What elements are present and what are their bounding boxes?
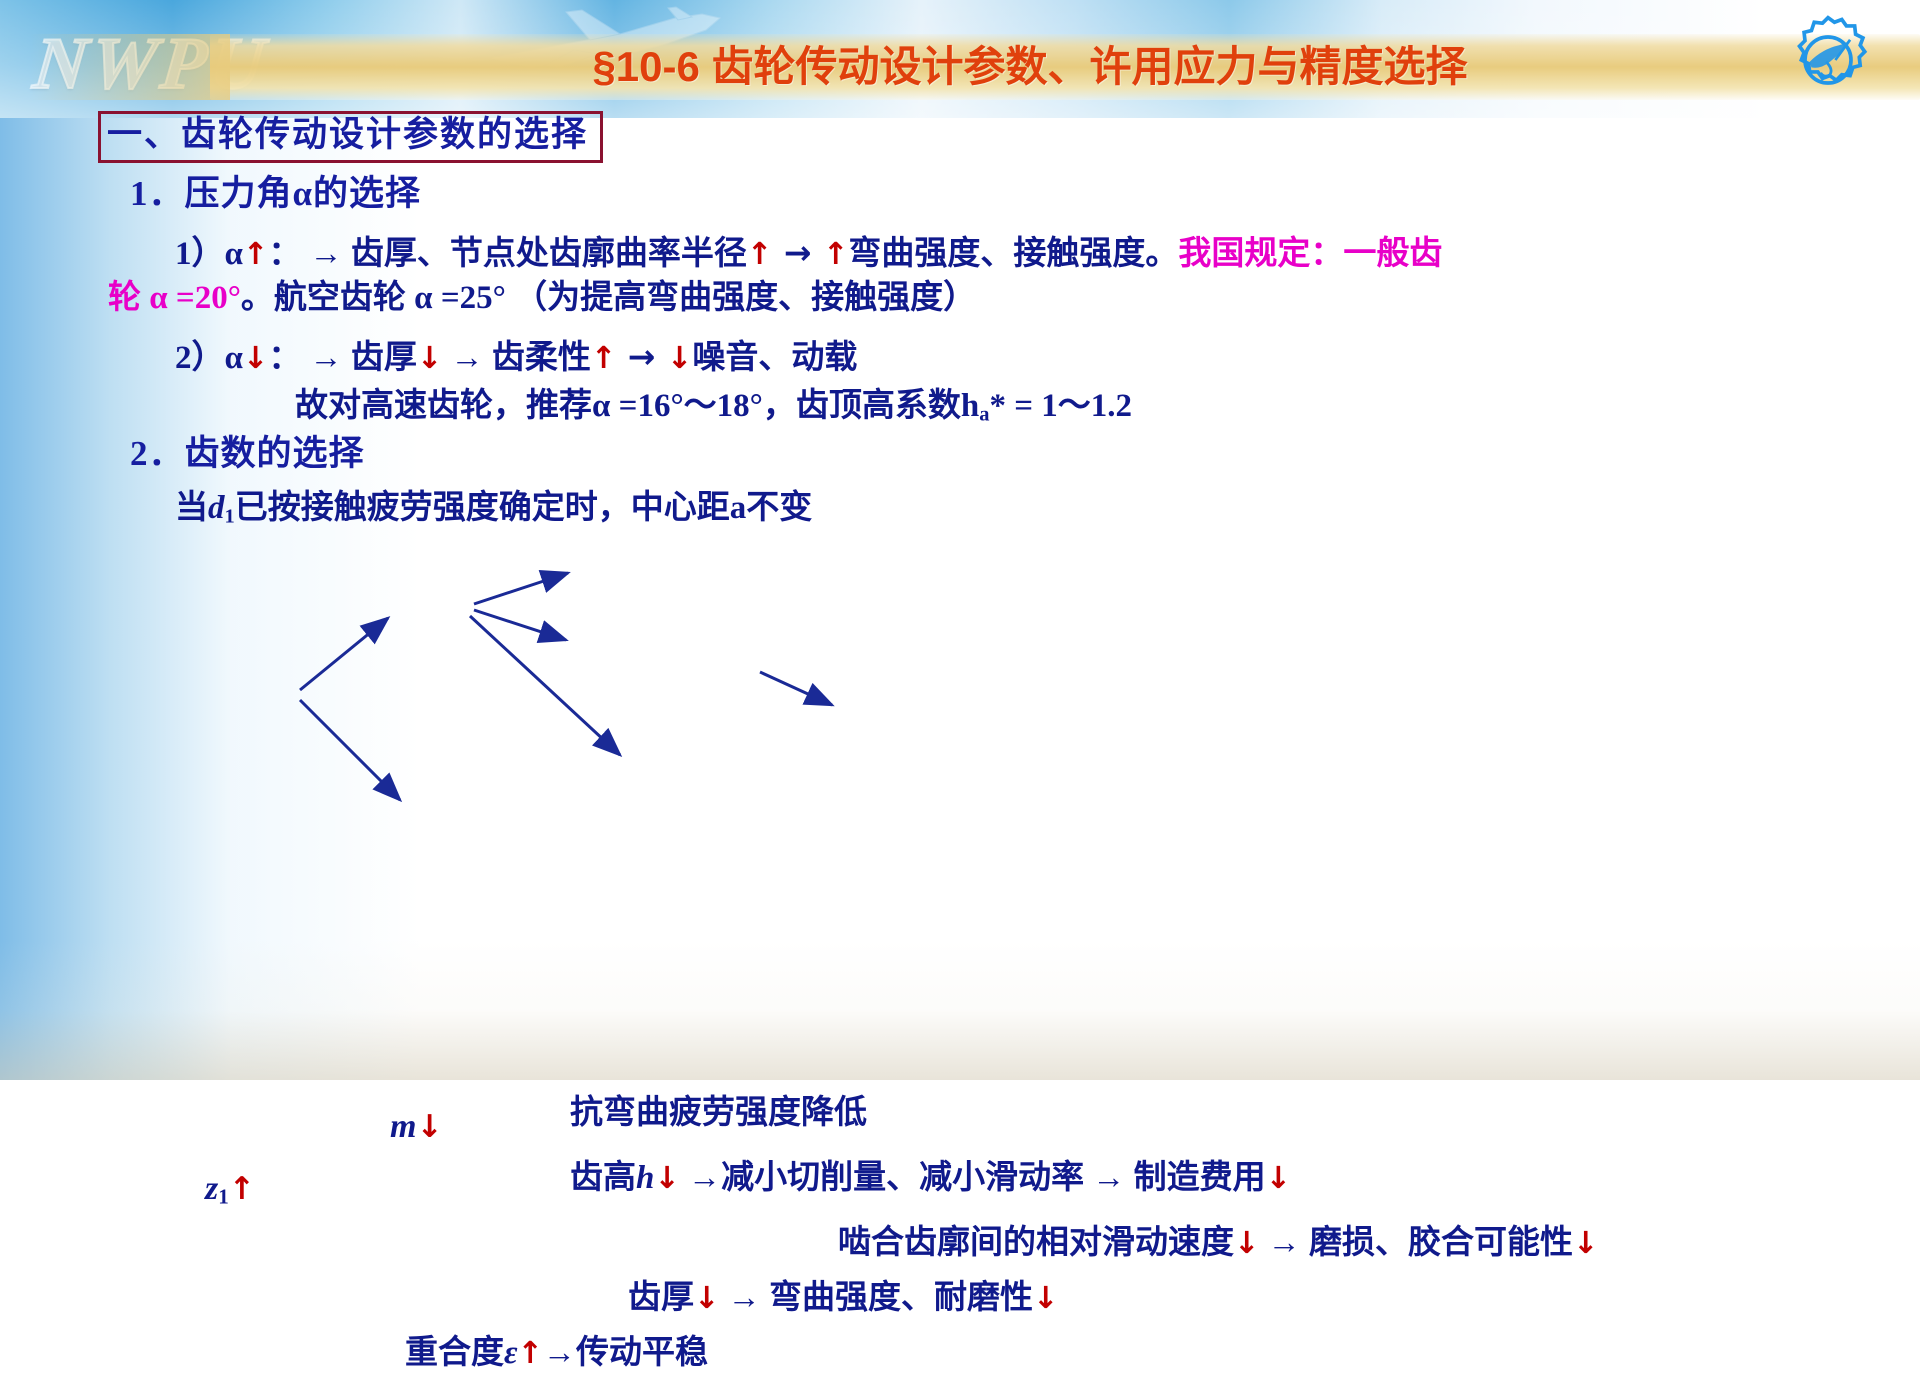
branch4-pre: 齿厚 xyxy=(628,1280,694,1316)
down-arrow-icon: ↓ xyxy=(667,341,692,376)
topic1-heading: 1．压力角α的选择 xyxy=(130,165,421,216)
intro-post: 已按接触疲劳强度确定时，中心距a不变 xyxy=(235,490,813,526)
item1-cont-blue: 。航空齿轮 α =25° （为提高弯曲强度、接触强度） xyxy=(241,280,976,316)
topic1-item2-line: 2）α↓： → 齿厚↓ → 齿柔性↑ → ↓噪音、动载 xyxy=(175,330,857,378)
section-heading-box: 一、齿轮传动设计参数的选择 xyxy=(98,111,603,163)
down-arrow-icon: ↓ xyxy=(417,341,442,376)
branch5-post: →传动平稳 xyxy=(543,1335,708,1371)
tree-node-sliding-velocity: 啮合齿廓间的相对滑动速度↓ → 磨损、胶合可能性↓ xyxy=(838,1215,1598,1263)
slide-header-banner: NWPU §10-6 齿轮传动设计参数、许用应力与精度选择 xyxy=(0,0,1920,118)
item1-cont-magenta: 轮 α =20° xyxy=(108,280,241,316)
topic2-heading-text: 2．齿数的选择 xyxy=(130,434,365,473)
branch1-text: 抗弯曲疲劳强度降低 xyxy=(570,1095,867,1131)
tree-node-contact-ratio: 重合度ε↑→传动平稳 xyxy=(405,1325,708,1373)
topic1-item1-line: 1）α↑： → 齿厚、节点处齿廓曲率半径↑ → ↑弯曲强度、接触强度。我国规定：… xyxy=(175,226,1442,274)
up-arrow-icon: ↑ xyxy=(591,341,616,376)
topic2-heading: 2．齿数的选择 xyxy=(130,425,365,476)
tree-node-bending-fatigue: 抗弯曲疲劳强度降低 xyxy=(570,1085,867,1133)
item1-prefix: 1）α xyxy=(175,236,243,272)
intro-pre: 当 xyxy=(175,490,208,526)
down-arrow-icon: ↓ xyxy=(1234,1226,1259,1261)
item2-mid2: → 齿柔性 xyxy=(442,340,591,376)
item2-mid1: ： → 齿厚 xyxy=(268,340,417,376)
down-arrow-icon: ↓ xyxy=(1033,1281,1058,1316)
item1-mid: ： → 齿厚、节点处齿廓曲率半径 xyxy=(268,236,747,272)
item2-cont-text: 故对高速齿轮，推荐α =16°～18°，齿顶高系数h xyxy=(295,388,979,424)
item2-cont-subscript: a xyxy=(979,404,989,426)
z-subscript: 1 xyxy=(218,1185,229,1209)
item1-arrow: → xyxy=(772,233,823,272)
branch3-pre: 啮合齿廓间的相对滑动速度 xyxy=(838,1225,1234,1261)
down-arrow-icon: ↓ xyxy=(1266,1161,1291,1196)
tree-node-z1: z1↑ xyxy=(205,1170,255,1210)
item2-mid3: → xyxy=(616,337,667,376)
branch5-pre: 重合度 xyxy=(405,1335,504,1371)
topic2-intro: 当d1已按接触疲劳强度确定时，中心距a不变 xyxy=(175,480,812,529)
tree-node-tooth-height: 齿高h↓ →减小切削量、减小滑动率 → 制造费用↓ xyxy=(570,1150,1291,1198)
branch4-mid: → 弯曲强度、耐磨性 xyxy=(719,1280,1033,1316)
tree-diagram: z1↑ m↓ 抗弯曲疲劳强度降低 齿高h↓ →减小切削量、减小滑动率 → 制造费… xyxy=(0,530,1920,890)
section-heading-text: 一、齿轮传动设计参数的选择 xyxy=(107,116,588,154)
nwpu-gear-logo-icon xyxy=(1782,14,1874,106)
branch2-post: →减小切削量、减小滑动率 → 制造费用 xyxy=(680,1160,1266,1196)
intro-var-d: d xyxy=(208,490,225,526)
tree-node-m: m↓ xyxy=(390,1108,443,1146)
item1-tail: 弯曲强度、接触强度。 xyxy=(848,236,1178,272)
topic1-item2-continued: 故对高速齿轮，推荐α =16°～18°，齿顶高系数ha* = 1～1.2 xyxy=(295,378,1132,427)
branch2-var-h: h xyxy=(636,1160,654,1196)
down-arrow-icon: ↓ xyxy=(694,1281,719,1316)
item2-prefix: 2）α xyxy=(175,340,243,376)
down-arrow-icon: ↓ xyxy=(243,341,268,376)
up-arrow-icon: ↑ xyxy=(747,237,772,272)
branch2-pre: 齿高 xyxy=(570,1160,636,1196)
item1-highlight: 我国规定：一般齿 xyxy=(1178,236,1442,272)
topic1-item1-continued: 轮 α =20°。航空齿轮 α =25° （为提高弯曲强度、接触强度） xyxy=(108,270,976,318)
tree-node-tooth-thickness: 齿厚↓ → 弯曲强度、耐磨性↓ xyxy=(628,1270,1058,1318)
up-arrow-icon: ↑ xyxy=(243,237,268,272)
slide-canvas: NWPU §10-6 齿轮传动设计参数、许用应力与精度选择 一、齿轮传动设计参数… xyxy=(0,0,1920,1080)
down-arrow-icon: ↓ xyxy=(416,1109,442,1145)
up-arrow-icon: ↑ xyxy=(229,1171,255,1207)
up-arrow-icon: ↑ xyxy=(518,1336,543,1371)
item2-cont-tail: * = 1～1.2 xyxy=(989,388,1132,424)
m-label: m xyxy=(390,1108,416,1145)
page-title: §10-6 齿轮传动设计参数、许用应力与精度选择 xyxy=(210,34,1850,100)
branch5-var-epsilon: ε xyxy=(504,1335,518,1371)
branch3-mid: → 磨损、胶合可能性 xyxy=(1259,1225,1573,1261)
down-arrow-icon: ↓ xyxy=(1573,1226,1598,1261)
down-arrow-icon: ↓ xyxy=(654,1161,679,1196)
topic1-heading-text: 1．压力角α的选择 xyxy=(130,174,421,213)
up-arrow-icon: ↑ xyxy=(823,237,848,272)
item2-tail: 噪音、动载 xyxy=(692,340,857,376)
z-label: z xyxy=(205,1170,218,1207)
intro-subscript: 1 xyxy=(225,506,235,528)
